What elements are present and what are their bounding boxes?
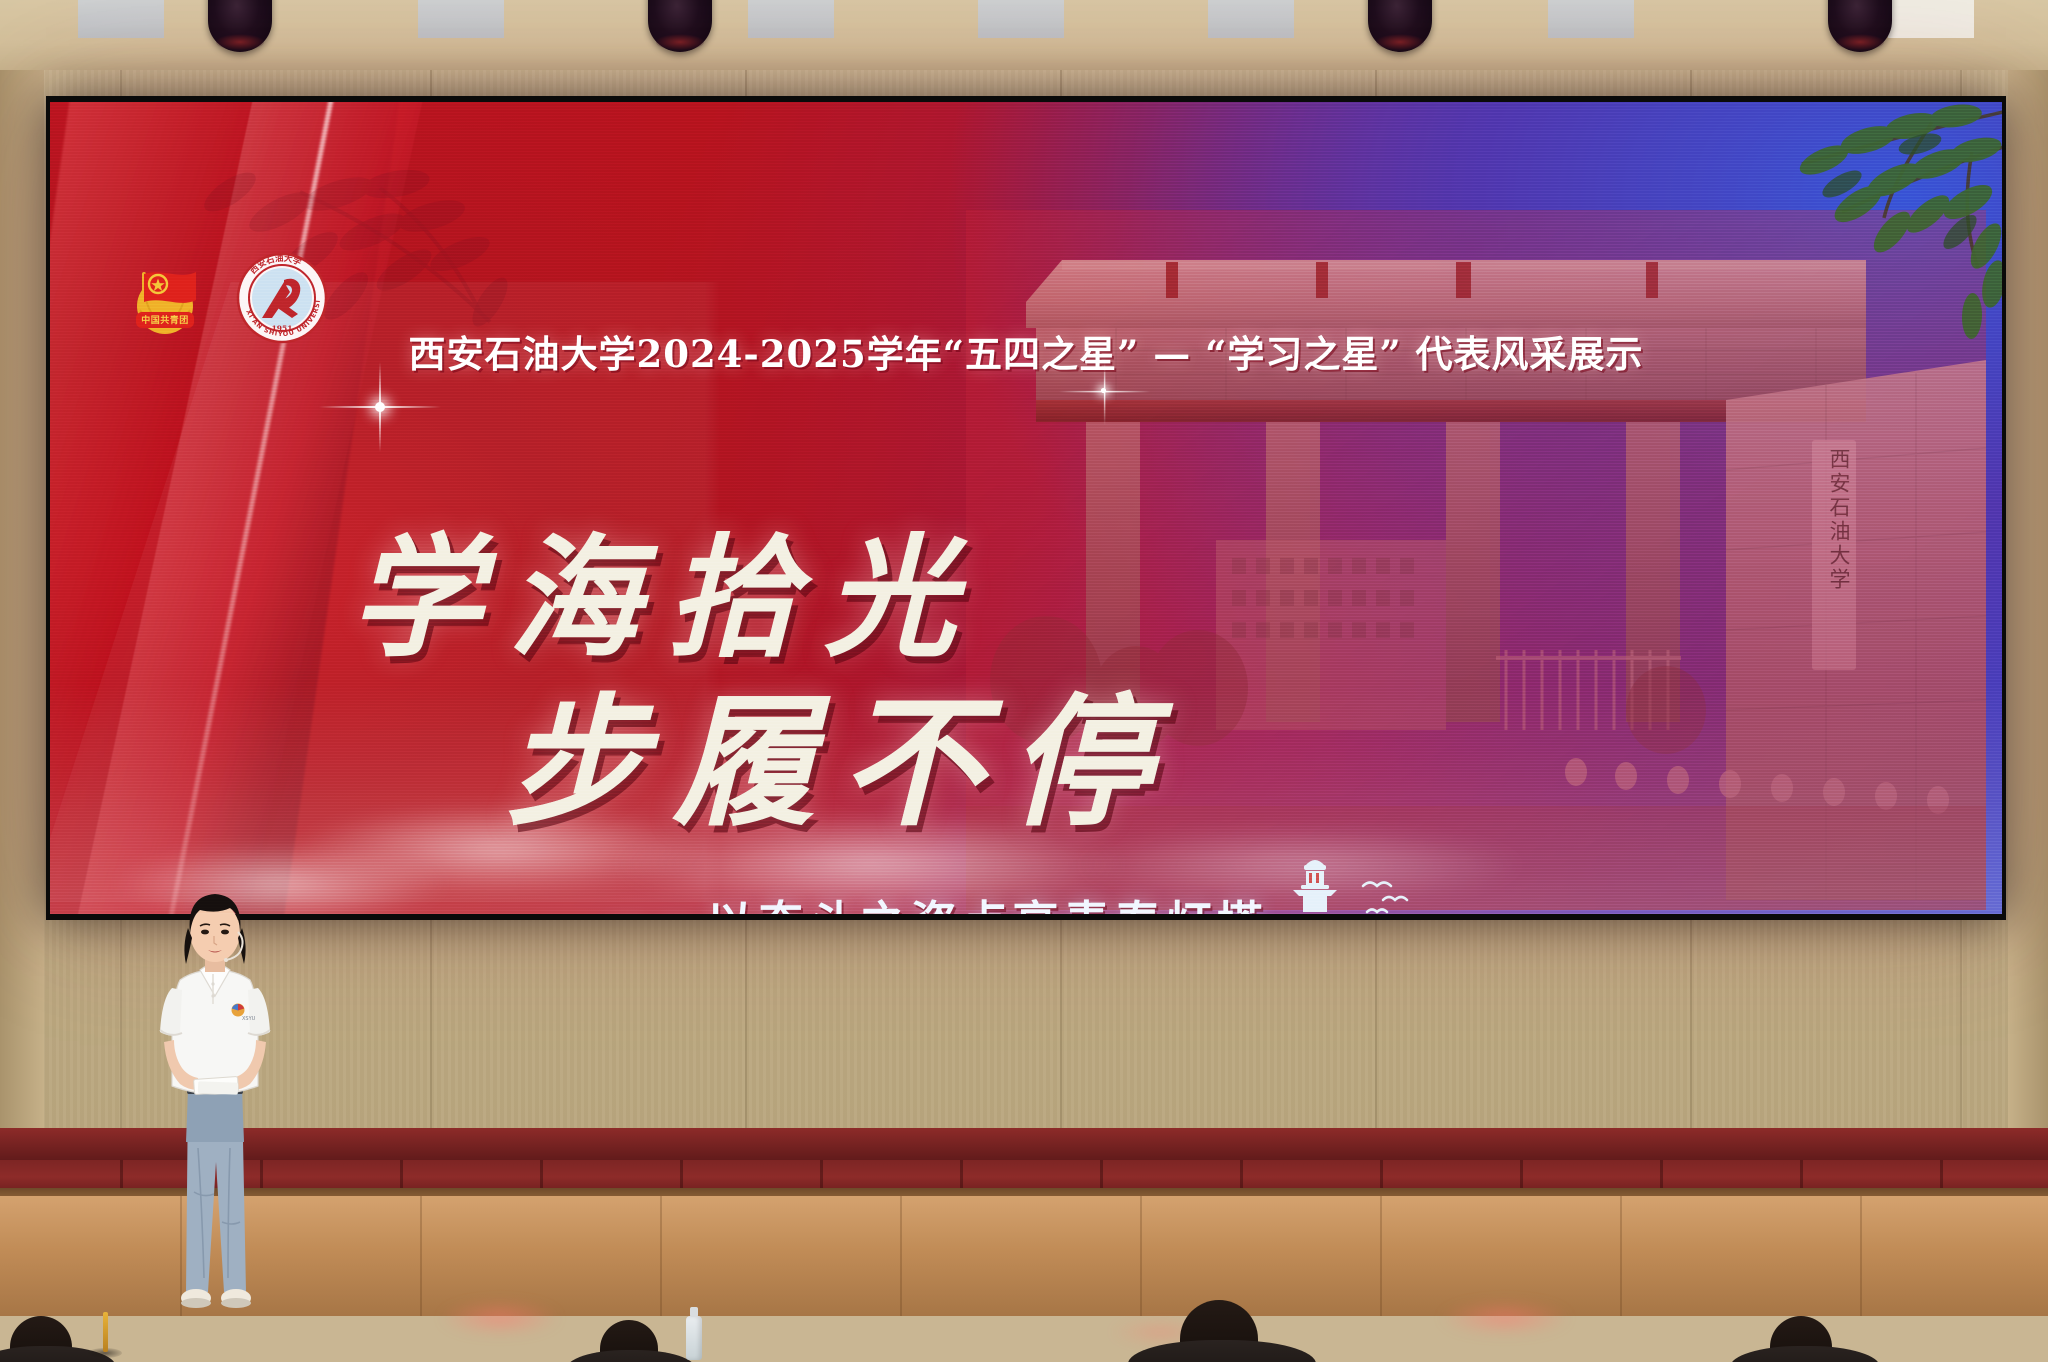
sparkle-decoration <box>1101 388 1106 393</box>
stage-spotlight-icon <box>648 0 712 52</box>
wall-baseboard <box>0 1128 2048 1162</box>
water-bottle <box>686 1316 702 1360</box>
microphone-stand <box>103 1312 108 1352</box>
stage-spotlight-icon <box>1828 0 1892 52</box>
audience-shoulder <box>566 1350 696 1362</box>
stage-spotlight-icon <box>208 0 272 52</box>
led-display-screen: 西安石油大学 <box>46 96 2006 920</box>
wall-trim-right <box>2008 70 2048 1200</box>
calligraphy-line-2: 步履不停 <box>505 647 1177 853</box>
stage-spotlight-icon <box>1368 0 1432 52</box>
wall-trim-left <box>0 70 44 1200</box>
audience-shoulder <box>1730 1346 1880 1362</box>
stage-scene: 西安石油大学 <box>0 0 2048 1362</box>
student-presenter: XSYU <box>150 892 280 1322</box>
slide-header-title: 西安石油大学2024-2025学年“五四之星” — “学习之星” 代表风采展示 <box>50 324 2002 378</box>
auditorium-ceiling <box>0 0 2048 78</box>
slide-subtitle: ——以奋斗之姿点亮青春灯塔 <box>50 887 2002 914</box>
sparkle-decoration <box>375 402 385 412</box>
audience-row <box>0 1292 2048 1362</box>
slide-canvas: 西安石油大学 <box>50 102 2002 914</box>
svg-text:XSYU: XSYU <box>242 1016 256 1022</box>
audience-shoulder <box>1128 1340 1316 1362</box>
